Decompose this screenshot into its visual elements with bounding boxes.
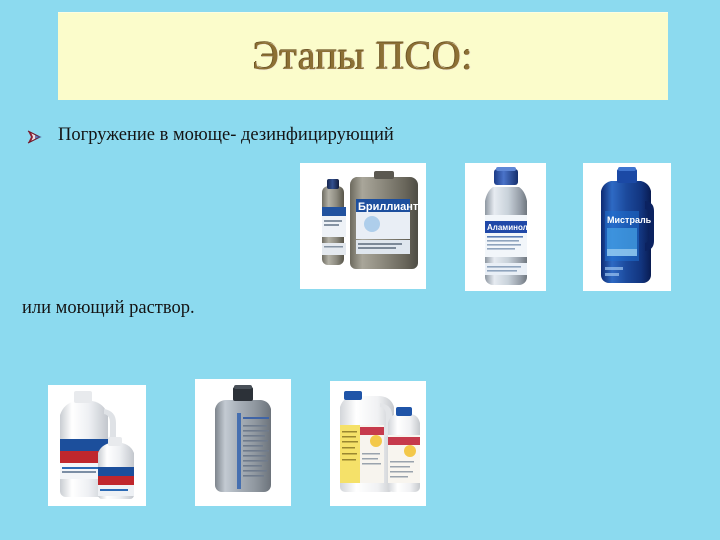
title-box: Этапы ПСО: xyxy=(58,12,668,100)
body-second-line: или моющий раствор. xyxy=(22,297,195,319)
bullet-item: Погружение в моюще- дезинфицирующий xyxy=(26,124,394,146)
product-photo-grey-flask xyxy=(195,379,291,506)
product-photo-mistral: Мистраль xyxy=(583,163,671,291)
bullet-text: Погружение в моюще- дезинфицирующий xyxy=(58,124,394,146)
product-photo-alaminol: Аламинол xyxy=(465,163,546,291)
page-title: Этапы ПСО: xyxy=(58,35,668,77)
product-photo-yellow-duo xyxy=(330,381,426,506)
svg-text:Бриллиант: Бриллиант xyxy=(358,201,419,213)
svg-text:Мистраль: Мистраль xyxy=(607,215,652,225)
arrow-bullet-icon xyxy=(26,127,44,149)
product-photo-samarovka xyxy=(48,385,146,506)
svg-text:Аламинол: Аламинол xyxy=(487,223,528,232)
slide-canvas: Этапы ПСО: Погружение в моюще- дезинфици… xyxy=(0,0,720,540)
product-photo-brilliant: Бриллиант xyxy=(300,163,426,289)
